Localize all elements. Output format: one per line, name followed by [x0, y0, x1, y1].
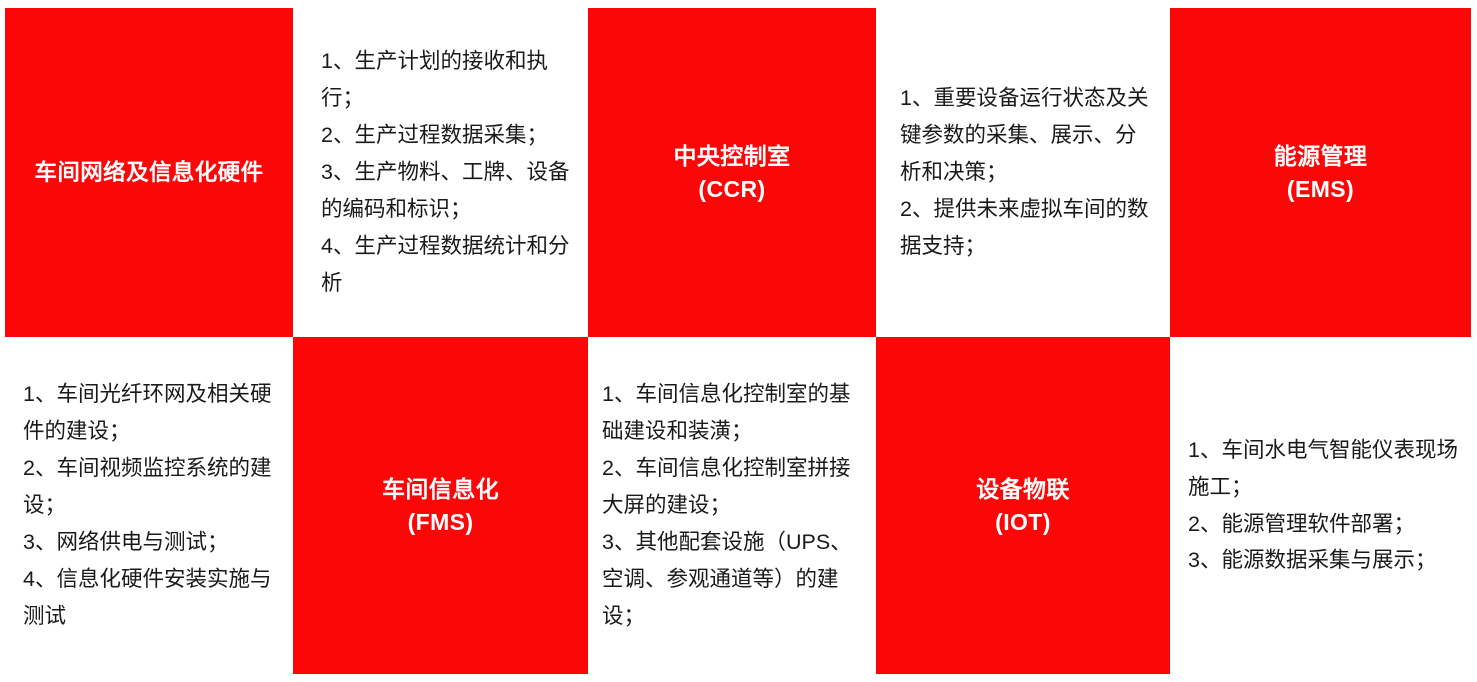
- list-item: 2、车间视频监控系统的建设；: [23, 450, 285, 524]
- list-items: 1、车间信息化控制室的基础建设和装潢； 2、车间信息化控制室拼接大屏的建设； 3…: [588, 376, 876, 635]
- list-item: 3、其他配套设施（UPS、空调、参观通道等）的建设；: [602, 524, 860, 635]
- list-item: 1、车间光纤环网及相关硬件的建设；: [23, 376, 285, 450]
- title-block: 车间信息化 (FMS): [368, 473, 513, 538]
- list-items: 1、车间水电气智能仪表现场施工； 2、能源管理软件部署； 3、能源数据采集与展示…: [1170, 432, 1471, 580]
- list-item: 3、能源数据采集与展示；: [1188, 542, 1461, 579]
- title-en: (CCR): [674, 173, 791, 206]
- cell-central-control-room-title: 中央控制室 (CCR): [588, 8, 876, 337]
- list-items: 1、车间光纤环网及相关硬件的建设； 2、车间视频监控系统的建设； 3、网络供电与…: [5, 376, 293, 635]
- list-item: 2、能源管理软件部署；: [1188, 506, 1461, 543]
- cell-production-plan-list: 1、生产计划的接收和执行； 2、生产过程数据采集； 3、生产物料、工牌、设备的编…: [293, 8, 588, 337]
- list-item: 2、提供未来虚拟车间的数据支持；: [900, 191, 1154, 265]
- list-item: 2、生产过程数据采集；: [321, 117, 574, 154]
- title-cn: 中央控制室: [674, 140, 791, 173]
- title-cn: 车间网络及信息化硬件: [34, 157, 263, 189]
- cell-workshop-informatization-title: 车间信息化 (FMS): [293, 337, 588, 674]
- title-en: (FMS): [382, 506, 499, 539]
- cell-equipment-status-list: 1、重要设备运行状态及关键参数的采集、展示、分析和决策； 2、提供未来虚拟车间的…: [876, 8, 1170, 337]
- list-items: 1、生产计划的接收和执行； 2、生产过程数据采集； 3、生产物料、工牌、设备的编…: [293, 43, 588, 302]
- list-item: 1、重要设备运行状态及关键参数的采集、展示、分析和决策；: [900, 80, 1154, 191]
- list-item: 3、网络供电与测试；: [23, 524, 285, 561]
- list-item: 1、车间信息化控制室的基础建设和装潢；: [602, 376, 860, 450]
- title-en: (IOT): [976, 506, 1070, 539]
- matrix-grid: 车间网络及信息化硬件 1、生产计划的接收和执行； 2、生产过程数据采集； 3、生…: [5, 8, 1471, 674]
- cell-energy-meter-list: 1、车间水电气智能仪表现场施工； 2、能源管理软件部署； 3、能源数据采集与展示…: [1170, 337, 1471, 674]
- list-item: 1、车间水电气智能仪表现场施工；: [1188, 432, 1461, 506]
- cell-control-room-construction-list: 1、车间信息化控制室的基础建设和装潢； 2、车间信息化控制室拼接大屏的建设； 3…: [588, 337, 876, 674]
- cell-fiber-network-list: 1、车间光纤环网及相关硬件的建设； 2、车间视频监控系统的建设； 3、网络供电与…: [5, 337, 293, 674]
- list-item: 2、车间信息化控制室拼接大屏的建设；: [602, 450, 860, 524]
- cell-equipment-iot-title: 设备物联 (IOT): [876, 337, 1170, 674]
- title-block: 车间网络及信息化硬件: [20, 157, 277, 189]
- title-en: (EMS): [1274, 173, 1368, 206]
- list-item: 1、生产计划的接收和执行；: [321, 43, 574, 117]
- list-item: 4、生产过程数据统计和分析: [321, 228, 574, 302]
- title-block: 能源管理 (EMS): [1260, 140, 1382, 205]
- list-item: 3、生产物料、工牌、设备的编码和标识；: [321, 154, 574, 228]
- list-item: 4、信息化硬件安装实施与测试: [23, 561, 285, 635]
- title-block: 设备物联 (IOT): [962, 473, 1084, 538]
- cell-energy-management-title: 能源管理 (EMS): [1170, 8, 1471, 337]
- list-items: 1、重要设备运行状态及关键参数的采集、展示、分析和决策； 2、提供未来虚拟车间的…: [876, 80, 1170, 265]
- title-block: 中央控制室 (CCR): [660, 140, 805, 205]
- cell-workshop-network-hardware-title: 车间网络及信息化硬件: [5, 8, 293, 337]
- title-cn: 设备物联: [976, 473, 1070, 506]
- title-cn: 能源管理: [1274, 140, 1368, 173]
- title-cn: 车间信息化: [382, 473, 499, 506]
